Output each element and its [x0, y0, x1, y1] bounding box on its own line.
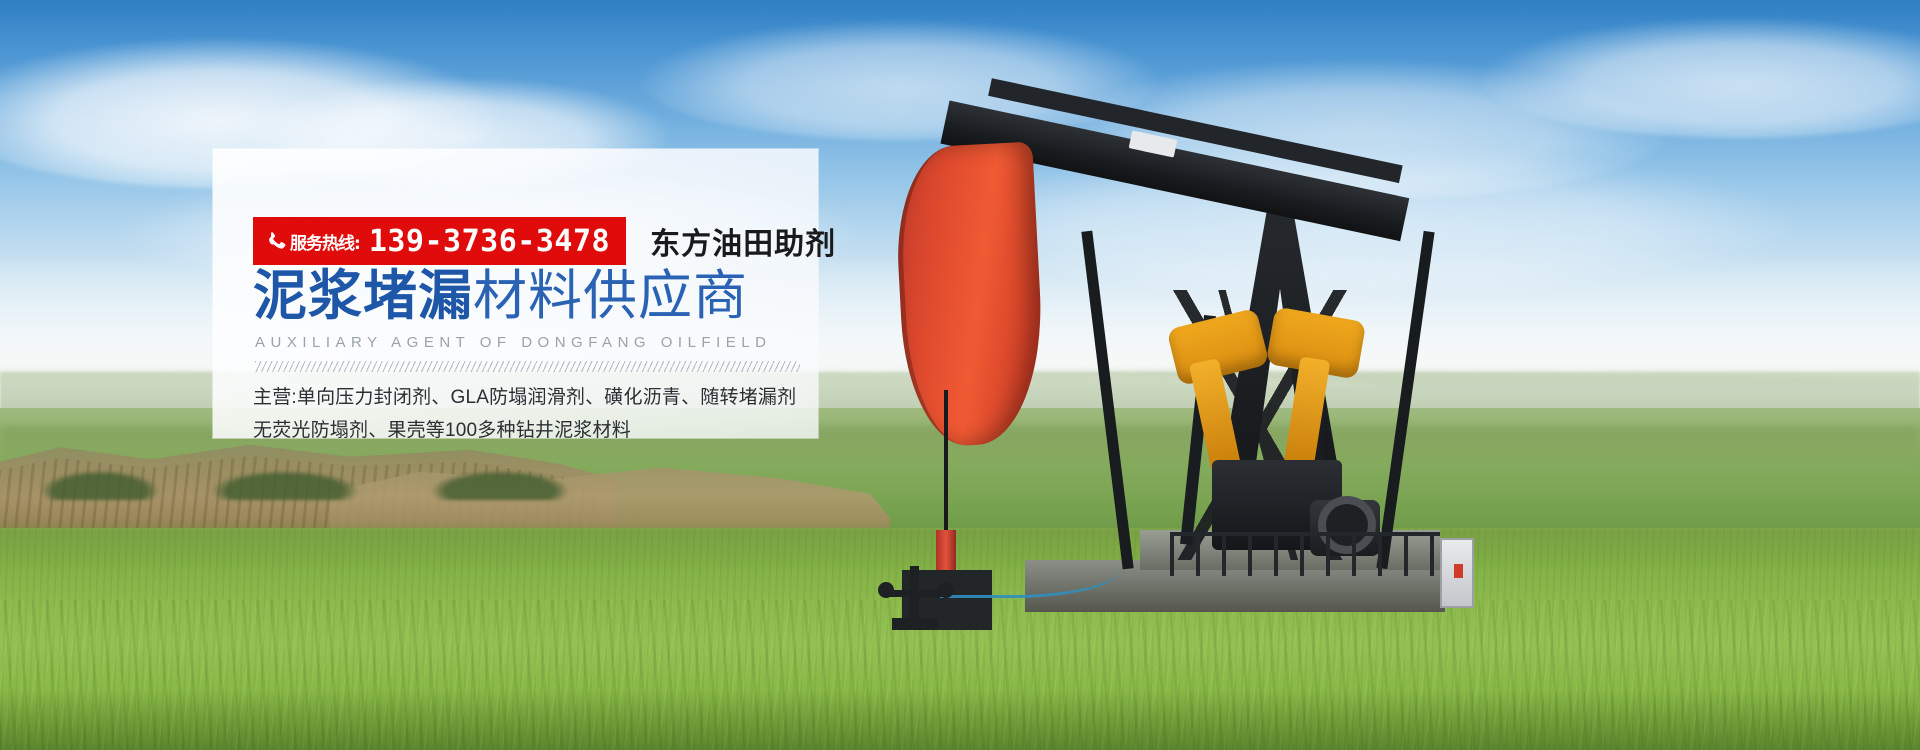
horsehead-edge	[892, 142, 1048, 449]
hatch-divider	[255, 361, 800, 372]
hotline-label: 服务热线:	[290, 229, 360, 254]
product-description: 主营:单向压力封闭剂、GLA防塌润滑剂、磺化沥青、随转堵漏剂 无荧光防塌剂、果壳…	[253, 382, 796, 447]
bridle-cable	[944, 390, 948, 550]
headline-subtitle: AUXILIARY AGENT OF DONGFANG OILFIELD	[255, 334, 771, 351]
description-line-1: 主营:单向压力封闭剂、GLA防塌润滑剂、磺化沥青、随转堵漏剂	[253, 382, 796, 415]
hotline-badge[interactable]: 服务热线: 139-3736-3478	[253, 217, 626, 265]
control-cabinet	[1440, 538, 1474, 608]
phone-icon	[265, 230, 287, 252]
safety-railing	[1170, 532, 1440, 576]
hero-info-panel: 服务热线: 139-3736-3478 东方油田助剂 泥浆堵漏材料供应商 AUX…	[213, 149, 818, 438]
shrub	[210, 470, 360, 500]
headline-light: 材料供应商	[473, 266, 748, 326]
cabinet-indicator	[1454, 564, 1463, 578]
shrub	[40, 470, 160, 500]
hotline-row: 服务热线: 139-3736-3478 东方油田助剂	[253, 217, 836, 265]
wellhead-christmas-tree	[870, 560, 990, 630]
oil-pumpjack	[840, 60, 1560, 700]
brand-name: 东方油田助剂	[650, 219, 836, 263]
page-title: 泥浆堵漏材料供应商	[253, 268, 748, 325]
headline-strong: 泥浆堵漏	[253, 266, 473, 326]
hero-banner: 服务热线: 139-3736-3478 东方油田助剂 泥浆堵漏材料供应商 AUX…	[0, 0, 1920, 750]
description-line-2: 无荧光防塌剂、果壳等100多种钻井泥浆材料	[253, 415, 796, 448]
shrub	[430, 470, 570, 500]
hotline-number: 139-3736-3478	[369, 224, 610, 259]
